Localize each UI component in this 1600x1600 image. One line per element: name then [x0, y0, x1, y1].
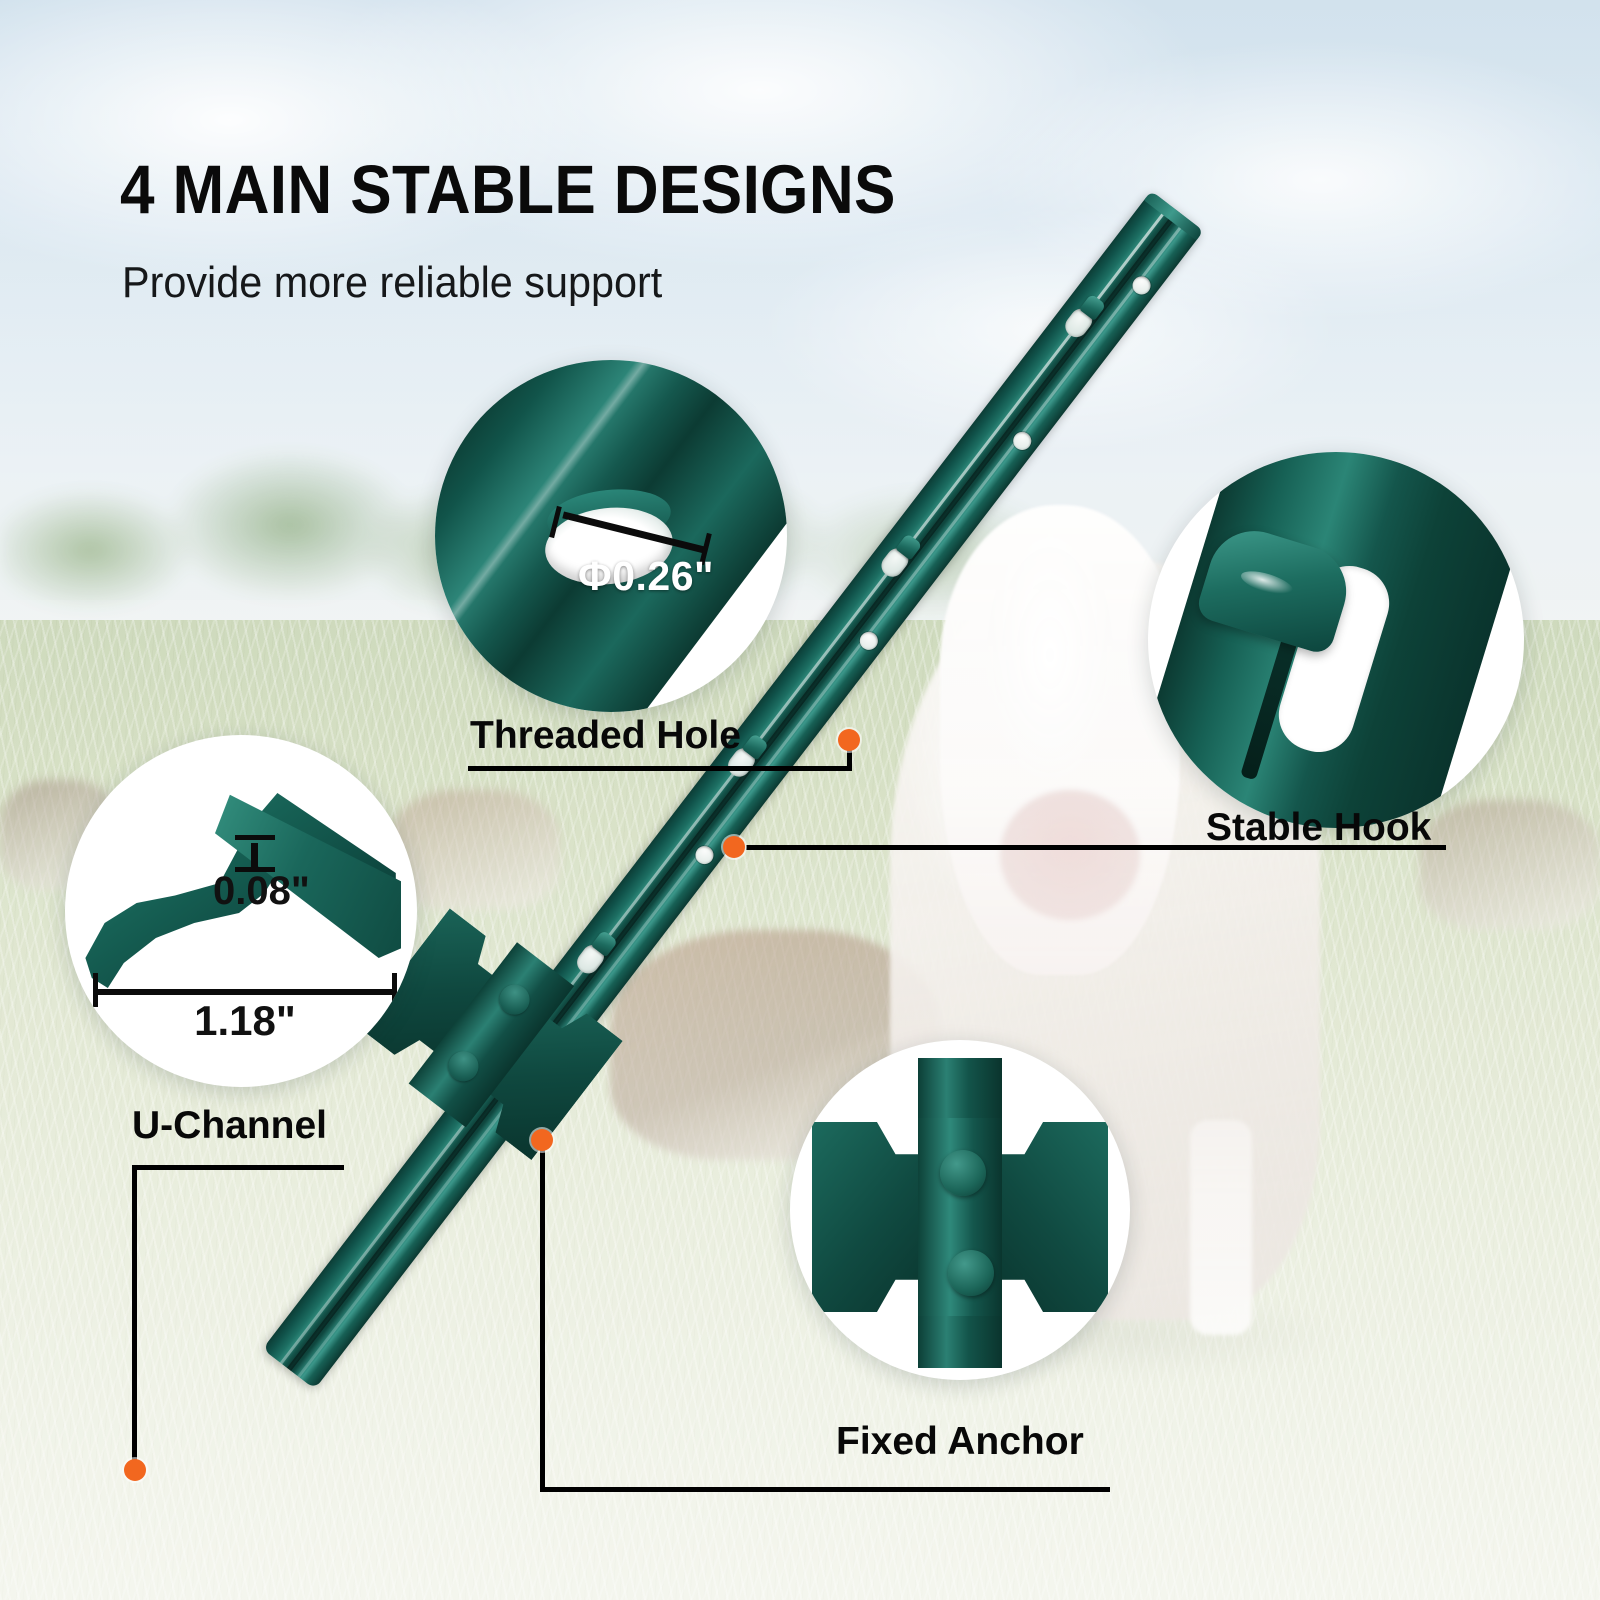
thickness-text: 0.08"	[213, 869, 310, 914]
hole-diameter-text: Φ0.26"	[521, 553, 771, 600]
width-text: 1.18"	[95, 997, 395, 1045]
label-u-channel: U-Channel	[132, 1104, 327, 1148]
marker-dot-fixed-anchor	[531, 1129, 553, 1151]
infographic-canvas: 4 MAIN STABLE DESIGNS Provide more relia…	[0, 0, 1600, 1600]
leader-line-fixed-anchor	[540, 1487, 1110, 1492]
page-title: 4 MAIN STABLE DESIGNS	[120, 150, 896, 229]
callout-bubble-stable-hook	[1148, 452, 1524, 828]
callout-bubble-u-channel: 0.08" 1.18"	[65, 735, 417, 1087]
leader-line-u-channel	[132, 1165, 344, 1170]
label-stable-hook: Stable Hook	[1206, 806, 1431, 850]
label-fixed-anchor: Fixed Anchor	[836, 1420, 1084, 1464]
callout-bubble-threaded-hole: Φ0.26"	[435, 360, 787, 712]
marker-dot-stable-hook	[723, 836, 745, 858]
anchor-rivet-closeup	[940, 1150, 986, 1196]
anchor-rivet-closeup	[948, 1250, 994, 1296]
page-subtitle: Provide more reliable support	[122, 258, 662, 308]
thickness-dimension-line	[251, 843, 258, 869]
marker-dot-threaded-hole	[838, 729, 860, 751]
marker-dot-u-channel	[124, 1459, 146, 1481]
bubble-content-u-channel: 0.08" 1.18"	[65, 735, 417, 1087]
anchor-wing-right-closeup	[992, 1122, 1108, 1312]
anchor-wing-left-closeup	[812, 1122, 928, 1312]
bubble-content-stable-hook	[1148, 452, 1524, 828]
leader-line-u-channel-drop	[132, 1165, 137, 1470]
callout-bubble-fixed-anchor	[790, 1040, 1130, 1380]
bubble-content-threaded-hole: Φ0.26"	[435, 360, 787, 712]
leader-line-stable-hook	[746, 845, 1446, 850]
thickness-cap-top	[235, 835, 275, 840]
leader-line-fixed-anchor-riser	[540, 1140, 545, 1490]
label-threaded-hole: Threaded Hole	[470, 714, 741, 758]
bubble-content-fixed-anchor	[790, 1040, 1130, 1380]
width-dimension-line	[95, 989, 395, 995]
leader-line-threaded-hole	[468, 766, 852, 771]
